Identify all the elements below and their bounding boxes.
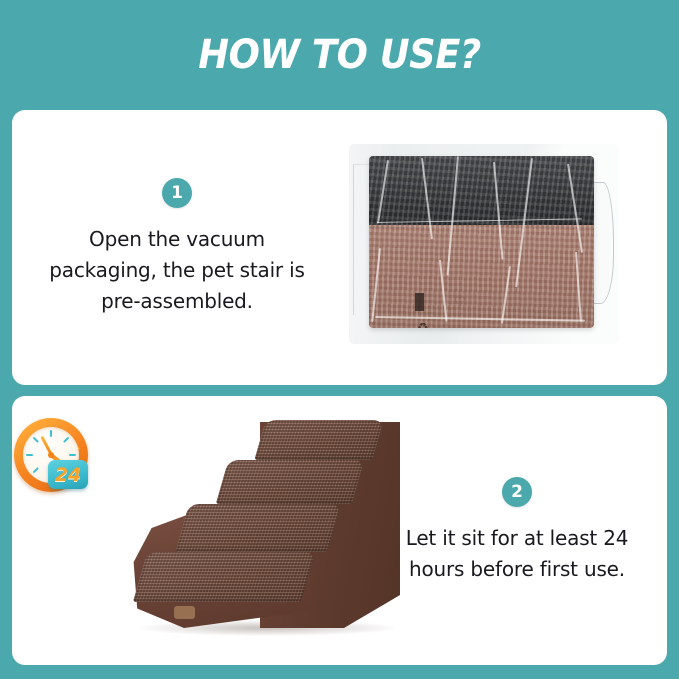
- step-2-number-badge: 2: [502, 477, 532, 507]
- compressed-pet-stair: ♡ ♻: [369, 156, 594, 328]
- pack-brown-section: ♡ ♻: [369, 225, 594, 328]
- pack-dark-section: [369, 156, 594, 225]
- clock-24h-icon: 24: [12, 412, 104, 502]
- pet-stair-image: [110, 414, 430, 644]
- recycle-icon: ♻: [417, 321, 429, 328]
- step-1-text-block: 1 Open the vacuum packaging, the pet sta…: [27, 178, 327, 317]
- clock-tick: [69, 454, 76, 456]
- clock-tick: [63, 437, 69, 443]
- clock-tick: [26, 454, 33, 456]
- step-card-2: 24 2 Let it sit for at least 24 hours be…: [12, 396, 667, 665]
- hours-badge-label: 24: [55, 464, 81, 486]
- step-1-illustration: ♡ ♻: [327, 110, 667, 385]
- hours-badge: 24: [48, 460, 88, 489]
- clock-tick: [50, 430, 52, 437]
- page-title: HOW TO USE?: [198, 32, 480, 78]
- heart-icon: ♡: [454, 295, 466, 308]
- stair-step-3: [216, 460, 365, 504]
- clock-tick: [33, 467, 39, 473]
- stair-step-2: [175, 504, 341, 552]
- step-card-1: 1 Open the vacuum packaging, the pet sta…: [12, 110, 667, 385]
- header: HOW TO USE?: [0, 0, 679, 110]
- step-1-description: Open the vacuum packaging, the pet stair…: [37, 224, 317, 317]
- pack-tag: [415, 293, 424, 311]
- brand-logo-patch: [174, 606, 195, 619]
- vacuum-package-image: ♡ ♻: [349, 144, 619, 344]
- how-to-use-infographic: HOW TO USE? 1 Open the vacuum packaging,…: [0, 0, 679, 679]
- clock-center-pin: [48, 452, 54, 458]
- step-2-illustration: 24: [12, 396, 317, 665]
- stair-step-1: [133, 552, 315, 602]
- clock-tick: [33, 437, 39, 443]
- stair-step-4: [254, 420, 383, 460]
- step-1-number-badge: 1: [162, 178, 192, 208]
